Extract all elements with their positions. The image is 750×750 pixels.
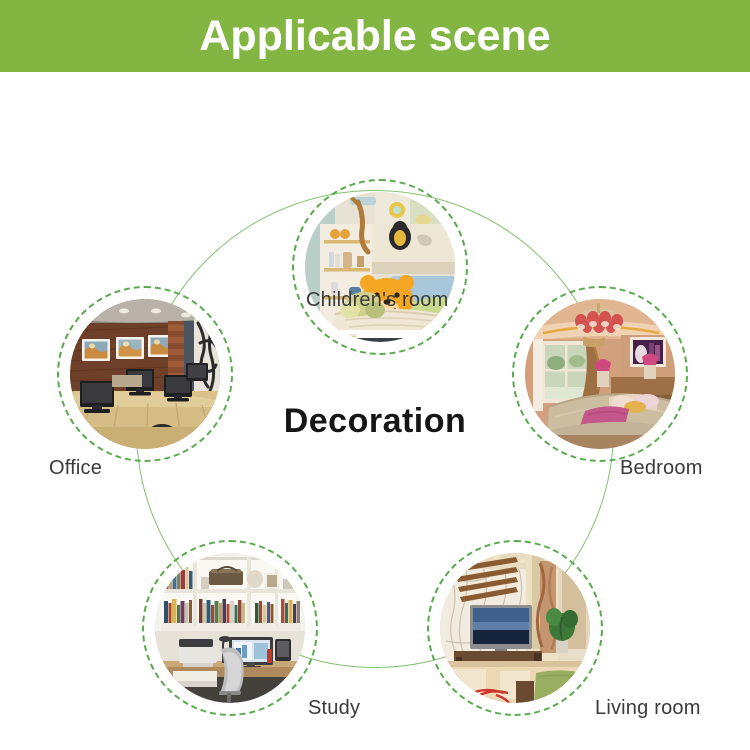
office-photo: [70, 299, 220, 449]
childrens-room-photo: [305, 192, 455, 342]
applicable-scene-infographic: Applicable scene Decoration: [0, 0, 750, 750]
bedroom-photo: [525, 299, 675, 449]
scene-diagram: Decoration: [0, 72, 750, 750]
living-room-photo: [440, 553, 590, 703]
header-banner: Applicable scene: [0, 0, 750, 72]
scene-label-office: Office: [49, 457, 102, 480]
scene-label-children: Children's room: [306, 289, 448, 312]
scene-label-bedroom: Bedroom: [620, 457, 703, 480]
study-photo: [155, 553, 305, 703]
scene-node-study[interactable]: [142, 540, 318, 716]
scene-node-office[interactable]: [57, 286, 233, 462]
page-title: Applicable scene: [199, 15, 550, 58]
scene-label-study: Study: [308, 697, 360, 720]
scene-node-living[interactable]: [427, 540, 603, 716]
scene-node-bedroom[interactable]: [512, 286, 688, 462]
scene-label-living: Living room: [595, 697, 701, 720]
scene-node-children[interactable]: [292, 179, 468, 355]
